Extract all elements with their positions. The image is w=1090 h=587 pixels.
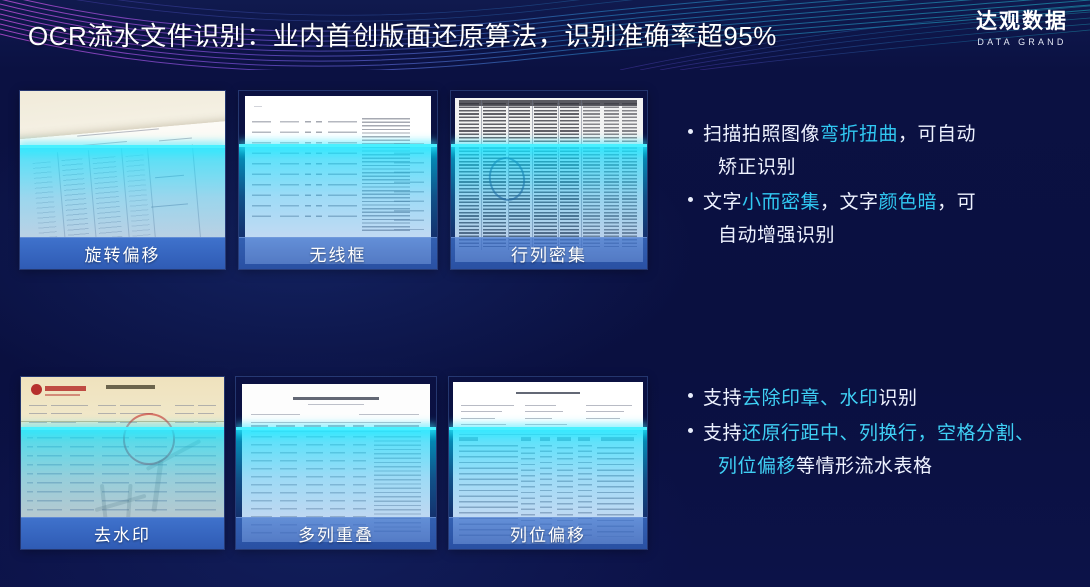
card-dense-rows-columns[interactable]: 行列密集 <box>451 91 647 269</box>
brand-logo-en: DATA GRAND <box>976 38 1068 47</box>
bullet-line: 扫描拍照图像弯折扭曲，可自动 <box>703 118 1078 151</box>
card-rotated-offset[interactable]: 旋转偏移 <box>20 91 225 269</box>
bullet-line: 支持还原行距中、列换行，空格分割、 <box>703 417 1078 450</box>
card-remove-watermark[interactable]: 去水印 <box>21 377 224 549</box>
card-caption: 列位偏移 <box>449 517 647 549</box>
card-overlapping-columns[interactable]: 多列重叠 <box>236 377 436 549</box>
bullet-line: 文字小而密集，文字颜色暗，可 <box>703 186 1078 219</box>
page-header: OCR流水文件识别：业内首创版面还原算法，识别准确率超95% 达观数据 DATA… <box>0 0 1090 70</box>
bullet-line: 列位偏移等情形流水表格 <box>703 450 1078 483</box>
bullet-line: 自动增强识别 <box>703 219 1078 252</box>
list-item: 支持去除印章、水印识别 <box>686 382 1078 415</box>
bullet-line: 矫正识别 <box>703 151 1078 184</box>
brand-logo: 达观数据 DATA GRAND <box>976 11 1068 47</box>
bullet-line: 支持去除印章、水印识别 <box>703 382 1078 415</box>
card-shifted-columns[interactable]: 列位偏移 <box>449 377 647 549</box>
feature-list-bottom: 支持去除印章、水印识别 支持还原行距中、列换行，空格分割、 列位偏移等情形流水表… <box>686 382 1078 485</box>
feature-list-top: 扫描拍照图像弯折扭曲，可自动 矫正识别 文字小而密集，文字颜色暗，可 自动增强识… <box>686 118 1078 254</box>
list-item: 文字小而密集，文字颜色暗，可 自动增强识别 <box>686 186 1078 252</box>
card-caption: 行列密集 <box>451 237 647 269</box>
bank-logo-icon <box>31 384 42 395</box>
brand-logo-cn: 达观数据 <box>976 11 1068 32</box>
card-borderless-table[interactable]: 无线框 <box>239 91 437 269</box>
card-caption: 去水印 <box>21 517 224 549</box>
page-title: OCR流水文件识别：业内首创版面还原算法，识别准确率超95% <box>28 16 777 53</box>
card-caption: 旋转偏移 <box>20 237 225 269</box>
list-item: 扫描拍照图像弯折扭曲，可自动 矫正识别 <box>686 118 1078 184</box>
card-caption: 无线框 <box>239 237 437 269</box>
card-caption: 多列重叠 <box>236 517 436 549</box>
list-item: 支持还原行距中、列换行，空格分割、 列位偏移等情形流水表格 <box>686 417 1078 483</box>
